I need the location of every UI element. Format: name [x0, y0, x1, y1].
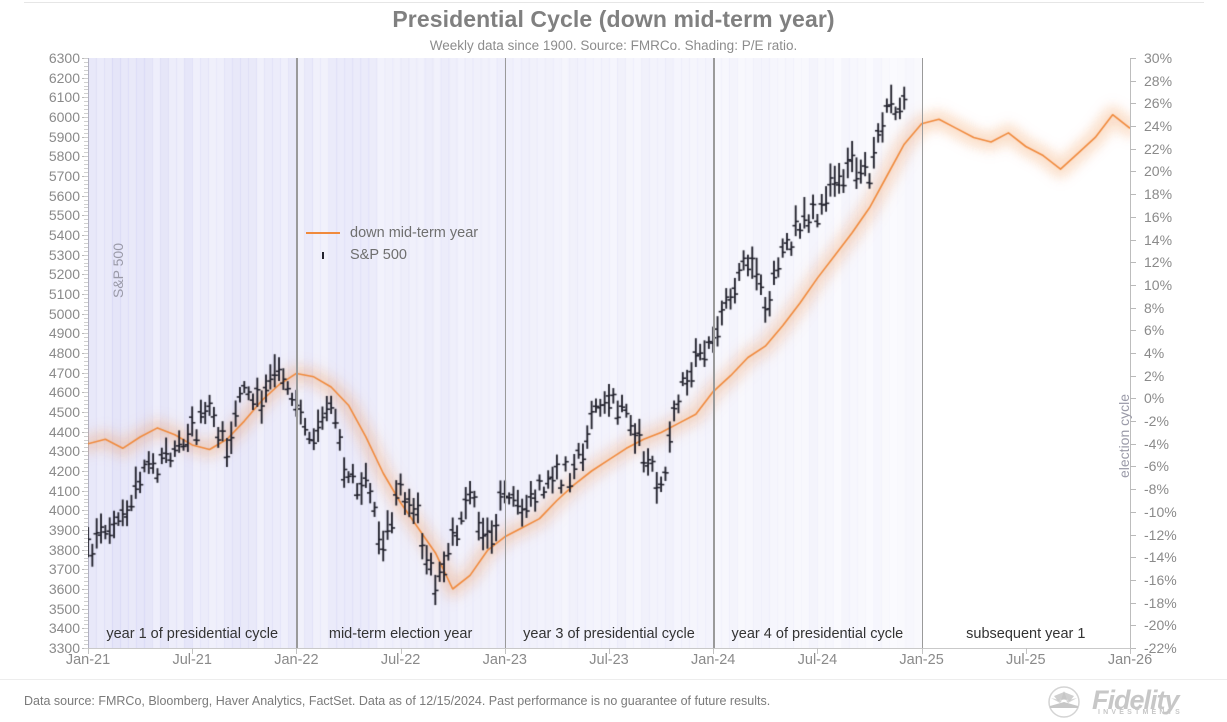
y-axis-right-tick-label: 20%: [1144, 164, 1204, 178]
y-axis-right-tick-label: -2%: [1144, 414, 1204, 428]
y-axis-right-tick-label: 24%: [1144, 119, 1204, 133]
logo-tagline: INVESTMENTS: [1098, 709, 1183, 716]
y-axis-right-tick-label: 2%: [1144, 369, 1204, 383]
x-axis-tick-label: Jul-23: [589, 652, 629, 668]
x-axis-tick-label: Jan-25: [899, 652, 943, 668]
footer-divider: [0, 679, 1227, 680]
y-axis-right-tick: [1130, 285, 1136, 286]
y-axis-left-tick-label: 5300: [24, 248, 80, 262]
y-axis-right-tick-label: 28%: [1144, 74, 1204, 88]
y-axis-left-tick-label: 6000: [24, 110, 80, 124]
y-axis-left-tick-label: 4700: [24, 366, 80, 380]
band-label: year 4 of presidential cycle: [732, 626, 904, 642]
x-axis-tick-label: Jul-21: [172, 652, 212, 668]
y-axis-left-tick-label: 3400: [24, 621, 80, 635]
y-axis-right-tick-label: -6%: [1144, 459, 1204, 473]
x-axis-tick: [1026, 648, 1027, 654]
y-axis-right-tick: [1130, 217, 1136, 218]
y-axis-right-tick: [1130, 330, 1136, 331]
y-axis-right-tick: [1130, 557, 1136, 558]
band-separator: [713, 58, 714, 648]
y-axis-right-tick-label: 8%: [1144, 301, 1204, 315]
x-axis-tick-label: Jan-21: [66, 652, 110, 668]
legend-line-swatch: [306, 232, 340, 234]
x-axis-tick-label: Jan-24: [691, 652, 735, 668]
y-axis-right-tick: [1130, 489, 1136, 490]
y-axis-right-tick: [1130, 149, 1136, 150]
legend-item-down-mid-term-year: down mid-term year: [306, 222, 478, 244]
legend-ohlc-swatch: [306, 252, 340, 259]
y-axis-left-tick-label: 3800: [24, 543, 80, 557]
y-axis-left-tick-label: 5100: [24, 287, 80, 301]
x-axis-tick-label: Jul-24: [798, 652, 838, 668]
y-axis-left-tick-label: 4900: [24, 326, 80, 340]
y-axis-left-tick-label: 5500: [24, 208, 80, 222]
fidelity-logo: Fidelity INVESTMENTS: [1040, 686, 1216, 718]
y-axis-left-tick-label: 6300: [24, 51, 80, 65]
y-axis-right-tick-label: 16%: [1144, 210, 1204, 224]
y-axis-left-tick-label: 3600: [24, 582, 80, 596]
y-axis-right-tick: [1130, 194, 1136, 195]
y-axis-left-tick-label: 6100: [24, 90, 80, 104]
chart-page: Presidential Cycle (down mid-term year) …: [0, 0, 1227, 722]
legend: down mid-term year S&P 500: [306, 222, 478, 266]
x-axis-tick: [505, 648, 506, 654]
y-axis-right-tick: [1130, 353, 1136, 354]
y-axis-left-tick-label: 5700: [24, 169, 80, 183]
fidelity-pyramid-icon: [1040, 686, 1088, 718]
y-axis-right-tick: [1130, 126, 1136, 127]
y-axis-left-tick-label: 3500: [24, 602, 80, 616]
x-axis-tick: [1130, 648, 1131, 654]
y-axis-right-tick-label: -14%: [1144, 550, 1204, 564]
y-axis-left-tick-label: 5600: [24, 189, 80, 203]
y-axis-left-tick-label: 4400: [24, 425, 80, 439]
y-axis-right-tick-label: 18%: [1144, 187, 1204, 201]
y-axis-left-tick-label: 4200: [24, 464, 80, 478]
y-axis-right-tick-label: -20%: [1144, 618, 1204, 632]
x-axis-tick: [296, 648, 297, 654]
y-axis-right-tick-label: -22%: [1144, 641, 1204, 655]
band-label: mid-term election year: [329, 626, 472, 642]
y-axis-right-tick: [1130, 308, 1136, 309]
y-axis-left-tick-label: 5000: [24, 307, 80, 321]
y-axis-right-tick-label: -12%: [1144, 528, 1204, 542]
y-axis-right-tick: [1130, 603, 1136, 604]
legend-item-sp500: S&P 500: [306, 244, 478, 266]
y-axis-right-tick-label: 14%: [1144, 233, 1204, 247]
x-axis-tick: [609, 648, 610, 654]
x-axis-tick-label: Jan-23: [483, 652, 527, 668]
x-axis-tick: [88, 648, 89, 654]
y-axis-left-tick-label: 4800: [24, 346, 80, 360]
y-axis-left-tick-label: 4300: [24, 444, 80, 458]
axis-title-election-cycle: election cycle: [1116, 394, 1132, 478]
band-separator: [922, 58, 923, 648]
y-axis-left-tick-label: 5200: [24, 267, 80, 281]
band-label: year 1 of presidential cycle: [106, 626, 278, 642]
legend-label: down mid-term year: [350, 225, 478, 241]
y-axis-left-tick-label: 5400: [24, 228, 80, 242]
y-axis-right-tick: [1130, 580, 1136, 581]
y-axis-right-tick: [1130, 81, 1136, 82]
page-subtitle: Weekly data since 1900. Source: FMRCo. S…: [0, 38, 1227, 53]
y-axis-right-tick-label: 30%: [1144, 51, 1204, 65]
y-axis-right-tick-label: 6%: [1144, 323, 1204, 337]
x-axis-tick: [401, 648, 402, 654]
y-axis-right-tick: [1130, 535, 1136, 536]
x-axis-tick: [922, 648, 923, 654]
y-axis-right-tick-label: -8%: [1144, 482, 1204, 496]
y-axis-right-tick-label: 4%: [1144, 346, 1204, 360]
y-axis-left-tick-label: 5800: [24, 149, 80, 163]
y-axis-right-tick-label: 10%: [1144, 278, 1204, 292]
y-axis-right-tick: [1130, 512, 1136, 513]
band-separator: [505, 58, 506, 648]
y-axis-right-tick: [1130, 240, 1136, 241]
y-axis-left-tick-label: 3900: [24, 523, 80, 537]
x-axis-tick-label: Jul-25: [1006, 652, 1046, 668]
band-label: year 3 of presidential cycle: [523, 626, 695, 642]
y-axis-right-tick: [1130, 376, 1136, 377]
y-axis-left-tick-label: 5900: [24, 130, 80, 144]
y-axis-right-tick-label: 0%: [1144, 391, 1204, 405]
band-separator: [296, 58, 297, 648]
axis-title-sp500: S&P 500: [110, 243, 126, 298]
y-axis-right-tick: [1130, 58, 1136, 59]
chart-canvas: [88, 58, 1130, 648]
legend-label: S&P 500: [350, 247, 407, 263]
y-axis-right-tick-label: -16%: [1144, 573, 1204, 587]
top-rule: [24, 2, 1204, 3]
page-title: Presidential Cycle (down mid-term year): [0, 6, 1227, 33]
y-axis-right-tick: [1130, 171, 1136, 172]
x-axis-tick: [817, 648, 818, 654]
y-axis-right-tick: [1130, 262, 1136, 263]
y-axis-right-tick: [1130, 625, 1136, 626]
source-note: Data source: FMRCo, Bloomberg, Haver Ana…: [24, 694, 770, 708]
x-axis-tick-label: Jan-22: [274, 652, 318, 668]
x-axis-tick: [192, 648, 193, 654]
x-axis-tick: [713, 648, 714, 654]
y-axis-left-tick-label: 3700: [24, 562, 80, 576]
y-axis-left-tick-label: 4100: [24, 484, 80, 498]
y-axis-right-tick-label: -4%: [1144, 437, 1204, 451]
y-axis-left-tick-label: 4000: [24, 503, 80, 517]
y-axis-left-tick-label: 4600: [24, 385, 80, 399]
x-axis-tick-label: Jul-22: [381, 652, 421, 668]
y-axis-right-tick-label: 26%: [1144, 96, 1204, 110]
x-axis-tick-label: Jan-26: [1108, 652, 1152, 668]
y-axis-right-tick-label: -18%: [1144, 596, 1204, 610]
y-axis-right-tick: [1130, 103, 1136, 104]
y-axis-right-tick-label: 12%: [1144, 255, 1204, 269]
y-axis-left-tick-label: 4500: [24, 405, 80, 419]
y-axis-left-tick-label: 6200: [24, 71, 80, 85]
band-label: subsequent year 1: [966, 626, 1085, 642]
y-axis-right-tick-label: 22%: [1144, 142, 1204, 156]
plot-area: year 1 of presidential cyclemid-term ele…: [88, 58, 1130, 648]
y-axis-right-tick-label: -10%: [1144, 505, 1204, 519]
